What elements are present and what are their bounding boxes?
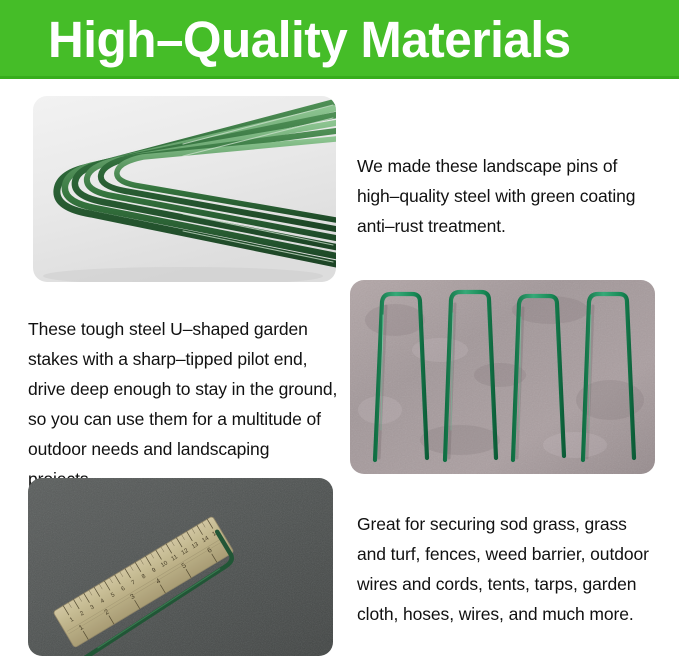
stakes-on-concrete-illustration [350,280,655,474]
paragraph-materials: We made these landscape pins of high–qua… [357,151,662,241]
product-photo-stakes-on-concrete [350,280,655,474]
header-banner: High–Quality Materials [0,0,679,79]
product-photo-stake-with-ruler: 123 456 789 101112 131415 123 456 [28,478,333,656]
paragraph-stakes: These tough steel U–shaped garden stakes… [28,314,338,494]
stake-with-ruler-illustration: 123 456 789 101112 131415 123 456 [28,478,333,656]
stacked-pins-illustration [33,96,336,282]
paragraph-uses: Great for securing sod grass, grass and … [357,509,657,629]
page-title: High–Quality Materials [48,11,571,69]
product-photo-stacked-pins [33,96,336,282]
